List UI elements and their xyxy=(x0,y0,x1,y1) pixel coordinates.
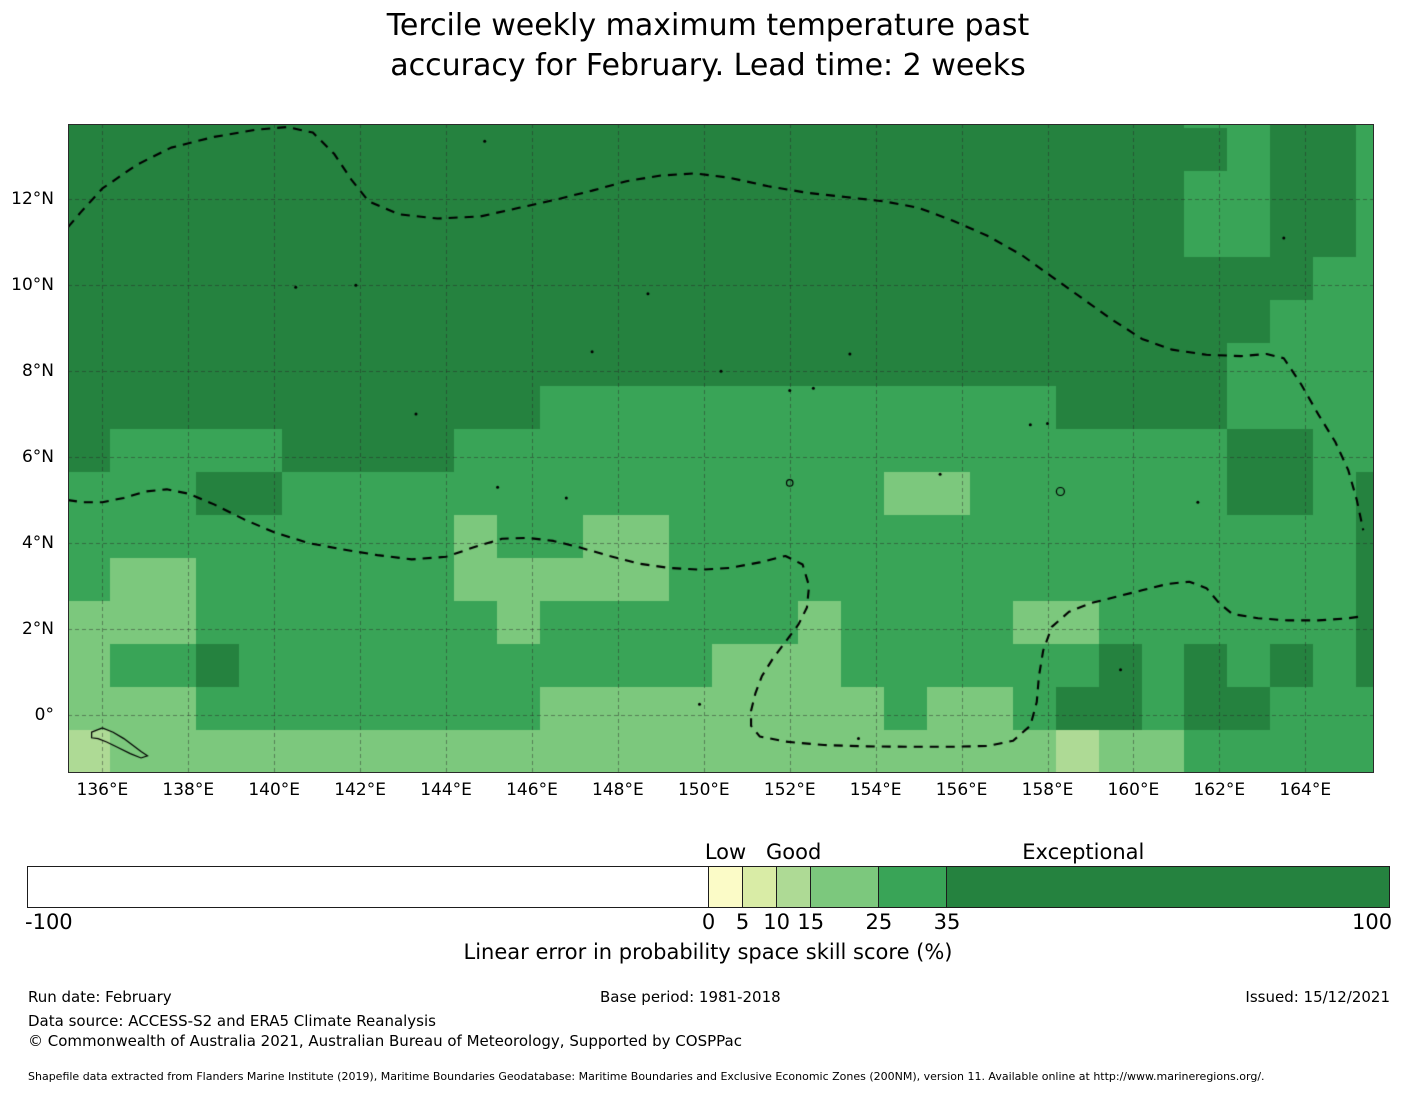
shapefile-note: Shapefile data extracted from Flanders M… xyxy=(28,1070,1265,1083)
chart-title: Tercile weekly maximum temperature past … xyxy=(0,6,1416,86)
x-tick-label: 152°E xyxy=(764,780,816,800)
x-tick-label: 162°E xyxy=(1193,780,1245,800)
colorbar-tick-label: 15 xyxy=(797,910,824,934)
x-tick-label: 136°E xyxy=(77,780,129,800)
colorbar-tick-label: 0 xyxy=(702,910,715,934)
x-tick-label: 148°E xyxy=(592,780,644,800)
colorbar-segment xyxy=(28,867,709,907)
colorbar-tick-label: 100 xyxy=(1352,910,1392,934)
x-tick-label: 146°E xyxy=(506,780,558,800)
heatmap-canvas xyxy=(68,124,1374,773)
y-tick-label: 12°N xyxy=(11,189,54,209)
x-tick-label: 150°E xyxy=(678,780,730,800)
x-tick-label: 160°E xyxy=(1108,780,1160,800)
data-source: Data source: ACCESS-S2 and ERA5 Climate … xyxy=(28,1012,436,1030)
colorbar-segment xyxy=(811,867,879,907)
colorbar-title: Linear error in probability space skill … xyxy=(0,940,1416,964)
x-tick-label: 158°E xyxy=(1022,780,1074,800)
footer: Run date: February Data source: ACCESS-S… xyxy=(0,988,1416,1068)
copyright: © Commonwealth of Australia 2021, Austra… xyxy=(28,1032,742,1050)
y-tick-label: 10°N xyxy=(11,275,54,295)
colorbar-segments xyxy=(27,866,1390,908)
x-tick-label: 144°E xyxy=(420,780,472,800)
colorbar-tick-label: 10 xyxy=(763,910,790,934)
colorbar-segment xyxy=(743,867,777,907)
x-tick-label: 154°E xyxy=(850,780,902,800)
y-tick-label: 8°N xyxy=(22,361,54,381)
x-tick-label: 142°E xyxy=(334,780,386,800)
x-tick-label: 164°E xyxy=(1279,780,1331,800)
colorbar-tick-label: -100 xyxy=(25,910,73,934)
issued-date: Issued: 15/12/2021 xyxy=(1245,988,1390,1006)
x-axis-labels: 136°E138°E140°E142°E144°E146°E148°E150°E… xyxy=(0,780,1416,810)
colorbar-segment xyxy=(709,867,743,907)
colorbar-tick-label: 35 xyxy=(934,910,961,934)
y-tick-label: 4°N xyxy=(22,533,54,553)
x-tick-label: 140°E xyxy=(248,780,300,800)
colorbar-segment xyxy=(879,867,947,907)
colorbar-segment xyxy=(777,867,811,907)
colorbar-tick-label: 5 xyxy=(736,910,749,934)
y-tick-label: 2°N xyxy=(22,619,54,639)
x-tick-label: 156°E xyxy=(936,780,988,800)
run-date: Run date: February xyxy=(28,988,172,1006)
colorbar-segment xyxy=(947,867,1389,907)
colorbar-tick-label: 25 xyxy=(866,910,893,934)
x-tick-label: 138°E xyxy=(162,780,214,800)
y-tick-label: 0° xyxy=(35,705,54,725)
colorbar-category-label: Exceptional xyxy=(1022,840,1144,864)
base-period: Base period: 1981-2018 xyxy=(600,988,781,1006)
y-tick-label: 6°N xyxy=(22,447,54,467)
colorbar xyxy=(27,866,1390,908)
map-plot-area xyxy=(68,124,1374,773)
colorbar-category-label: Good xyxy=(766,840,821,864)
colorbar-category-label: Low xyxy=(705,840,746,864)
